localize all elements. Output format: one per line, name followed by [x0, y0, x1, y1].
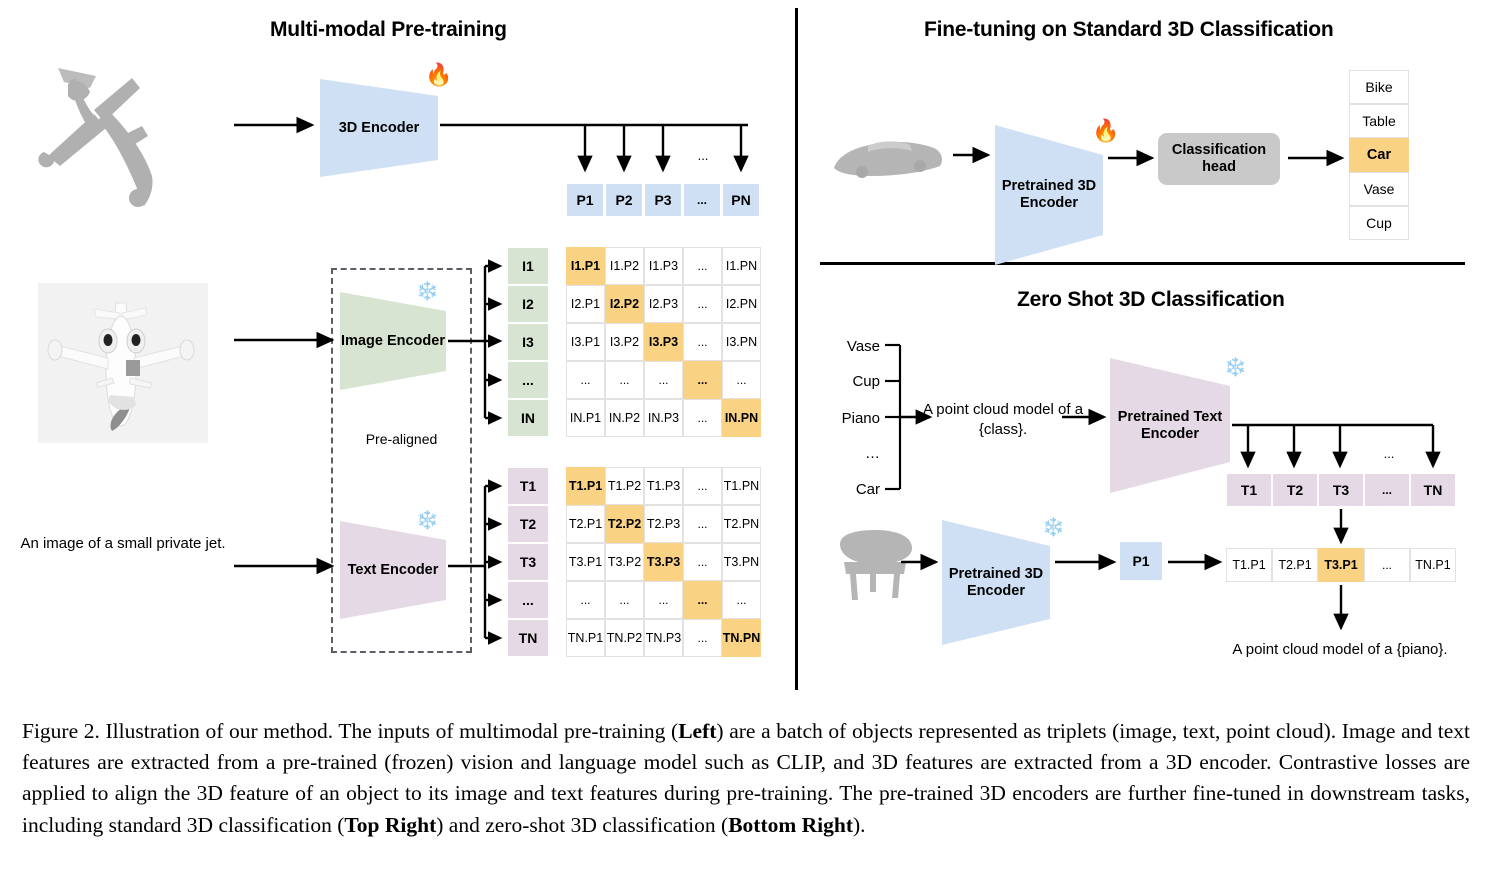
vertical-divider — [795, 8, 798, 690]
zs-sim-cell-1: T2.P1 — [1272, 548, 1318, 582]
t-matrix-cell-0-1: T1.P2 — [605, 467, 644, 505]
t-tag-0: T1 — [507, 467, 549, 505]
zs-t-tag-4: TN — [1410, 473, 1456, 507]
zs-t-tag-1: T2 — [1272, 473, 1318, 507]
p-tag-0: P1 — [566, 183, 604, 217]
panel-title-topright: Fine-tuning on Standard 3D Classificatio… — [924, 18, 1334, 42]
t-tag-2: T3 — [507, 543, 549, 581]
t-matrix-cell-3-2: ... — [644, 581, 683, 619]
caption-part-4: ). — [853, 813, 866, 837]
piano-point-cloud — [832, 526, 924, 606]
encoder-3d-label: 3D Encoder — [339, 120, 420, 137]
i-matrix-cell-2-4: I3.PN — [722, 323, 761, 361]
p-tag-4: PN — [722, 183, 760, 217]
text-input-caption: An image of a small private jet. — [18, 534, 228, 554]
encoder-image-label: Image Encoder — [341, 333, 445, 350]
t-tag-4: TN — [507, 619, 549, 657]
zs-class-0: Vase — [820, 337, 880, 357]
i-matrix-cell-1-1: I2.P2 — [605, 285, 644, 323]
encoder-pretrained-3d-zeroshot[interactable]: Pretrained 3D Encoder — [942, 520, 1050, 645]
i-matrix-cell-4-4: IN.PN — [722, 399, 761, 437]
t-matrix-cell-1-4: T2.PN — [722, 505, 761, 543]
i-matrix-cell-2-3: ... — [683, 323, 722, 361]
i-matrix-cell-1-3: ... — [683, 285, 722, 323]
encoder-pretrained-3d-topright-label: Pretrained 3D Encoder — [995, 178, 1103, 211]
t-matrix-cell-1-0: T2.P1 — [566, 505, 605, 543]
t-matrix-cell-2-0: T3.P1 — [566, 543, 605, 581]
i-matrix-cell-0-0: I1.P1 — [566, 247, 605, 285]
encoder-pretrained-text-label: Pretrained Text Encoder — [1110, 409, 1230, 442]
i-matrix-cell-4-2: IN.P3 — [644, 399, 683, 437]
zs-t-tag-3: ... — [1364, 473, 1410, 507]
t-matrix-cell-3-3: ... — [683, 581, 722, 619]
t-matrix-cell-3-4: ... — [722, 581, 761, 619]
t-matrix-cell-0-4: T1.PN — [722, 467, 761, 505]
t-matrix-cell-2-4: T3.PN — [722, 543, 761, 581]
encoder-3d[interactable]: 3D Encoder — [320, 79, 438, 177]
i-tag-1: I2 — [507, 285, 549, 323]
i-matrix-cell-3-0: ... — [566, 361, 605, 399]
i-matrix-cell-4-0: IN.P1 — [566, 399, 605, 437]
figure-caption: Figure 2. Illustration of our method. Th… — [22, 716, 1470, 841]
encoder-text[interactable]: Text Encoder — [340, 521, 446, 619]
encoder-image[interactable]: Image Encoder — [340, 292, 446, 390]
t-matrix-cell-2-2: T3.P3 — [644, 543, 683, 581]
t-matrix-cell-3-0: ... — [566, 581, 605, 619]
classification-head-label: Classification head — [1158, 142, 1280, 177]
t-tag-1: T2 — [507, 505, 549, 543]
i-matrix-cell-1-4: I2.PN — [722, 285, 761, 323]
t-matrix-cell-4-0: TN.P1 — [566, 619, 605, 657]
t-matrix-cell-0-3: ... — [683, 467, 722, 505]
zs-t-tag-2: T3 — [1318, 473, 1364, 507]
t-matrix-cell-2-1: T3.P2 — [605, 543, 644, 581]
zs-result-text: A point cloud model of a {piano}. — [1180, 640, 1490, 660]
t-matrix-cell-2-3: ... — [683, 543, 722, 581]
airplane-render-image — [38, 283, 208, 443]
i-matrix-cell-1-2: I2.P3 — [644, 285, 683, 323]
i-tag-3: ... — [507, 361, 549, 399]
zs-class-2: Piano — [820, 409, 880, 429]
zs-sim-cell-4: TN.P1 — [1410, 548, 1456, 582]
i-matrix-cell-4-3: ... — [683, 399, 722, 437]
class-item-0[interactable]: Bike — [1349, 70, 1409, 104]
encoder-pretrained-3d-zeroshot-label: Pretrained 3D Encoder — [942, 566, 1050, 599]
class-item-3[interactable]: Vase — [1349, 172, 1409, 206]
caption-bold-left: Left — [678, 719, 716, 743]
encoder-pretrained-3d-topright[interactable]: Pretrained 3D Encoder — [995, 125, 1103, 265]
i-matrix-cell-0-1: I1.P2 — [605, 247, 644, 285]
class-item-1[interactable]: Table — [1349, 104, 1409, 138]
airplane-point-cloud — [20, 48, 230, 228]
zs-class-4: Car — [820, 480, 880, 500]
t-matrix-cell-4-2: TN.P3 — [644, 619, 683, 657]
i-tag-0: I1 — [507, 247, 549, 285]
classification-head[interactable]: Classification head — [1158, 133, 1280, 185]
class-item-2[interactable]: Car — [1349, 138, 1409, 172]
i-matrix-cell-3-2: ... — [644, 361, 683, 399]
zs-prompt-template: A point cloud model of a {class}. — [908, 400, 1098, 441]
t-matrix-cell-3-1: ... — [605, 581, 644, 619]
i-tag-4: IN — [507, 399, 549, 437]
i-matrix-cell-2-2: I3.P3 — [644, 323, 683, 361]
t-tag-3: ... — [507, 581, 549, 619]
caption-bold-bottomright: Bottom Right — [728, 813, 853, 837]
zs-sim-cell-3: ... — [1364, 548, 1410, 582]
zs-feature-p1: P1 — [1120, 542, 1162, 580]
encoder-text-label: Text Encoder — [348, 562, 439, 579]
panel-title-left: Multi-modal Pre-training — [270, 18, 507, 42]
t-matrix-cell-4-4: TN.PN — [722, 619, 761, 657]
zs-class-3: … — [820, 444, 880, 464]
t-matrix-cell-4-3: ... — [683, 619, 722, 657]
i-matrix-cell-0-3: ... — [683, 247, 722, 285]
t-matrix-cell-4-1: TN.P2 — [605, 619, 644, 657]
i-matrix-cell-1-0: I2.P1 — [566, 285, 605, 323]
caption-part-1: Figure 2. Illustration of our method. Th… — [22, 719, 678, 743]
svg-text:...: ... — [1384, 446, 1395, 461]
caption-part-3: ) and zero-shot 3D classification ( — [436, 813, 728, 837]
i-matrix-cell-3-3: ... — [683, 361, 722, 399]
caption-bold-topright: Top Right — [344, 813, 436, 837]
zs-t-tag-0: T1 — [1226, 473, 1272, 507]
pre-aligned-label: Pre-aligned — [331, 430, 472, 449]
i-matrix-cell-0-4: I1.PN — [722, 247, 761, 285]
i-matrix-cell-4-1: IN.P2 — [605, 399, 644, 437]
figure-canvas: Multi-modal Pre-training Fine-tuning on … — [0, 0, 1490, 700]
i-tag-2: I3 — [507, 323, 549, 361]
i-matrix-cell-0-2: I1.P3 — [644, 247, 683, 285]
zs-sim-cell-0: T1.P1 — [1226, 548, 1272, 582]
p-tag-1: P2 — [605, 183, 643, 217]
t-matrix-cell-0-0: T1.P1 — [566, 467, 605, 505]
car-point-cloud — [828, 128, 948, 188]
p-tag-3: ... — [683, 183, 721, 217]
panel-title-bottomright: Zero Shot 3D Classification — [1017, 288, 1285, 312]
t-matrix-cell-0-2: T1.P3 — [644, 467, 683, 505]
horizontal-divider — [820, 262, 1465, 265]
zs-class-1: Cup — [820, 372, 880, 392]
i-matrix-cell-2-1: I3.P2 — [605, 323, 644, 361]
encoder-pretrained-text[interactable]: Pretrained Text Encoder — [1110, 358, 1230, 493]
i-matrix-cell-2-0: I3.P1 — [566, 323, 605, 361]
t-matrix-cell-1-3: ... — [683, 505, 722, 543]
i-matrix-cell-3-1: ... — [605, 361, 644, 399]
zs-sim-cell-2: T3.P1 — [1318, 548, 1364, 582]
i-matrix-cell-3-4: ... — [722, 361, 761, 399]
svg-text:...: ... — [698, 148, 709, 163]
p-tag-2: P3 — [644, 183, 682, 217]
class-item-4[interactable]: Cup — [1349, 206, 1409, 240]
t-matrix-cell-1-1: T2.P2 — [605, 505, 644, 543]
t-matrix-cell-1-2: T2.P3 — [644, 505, 683, 543]
